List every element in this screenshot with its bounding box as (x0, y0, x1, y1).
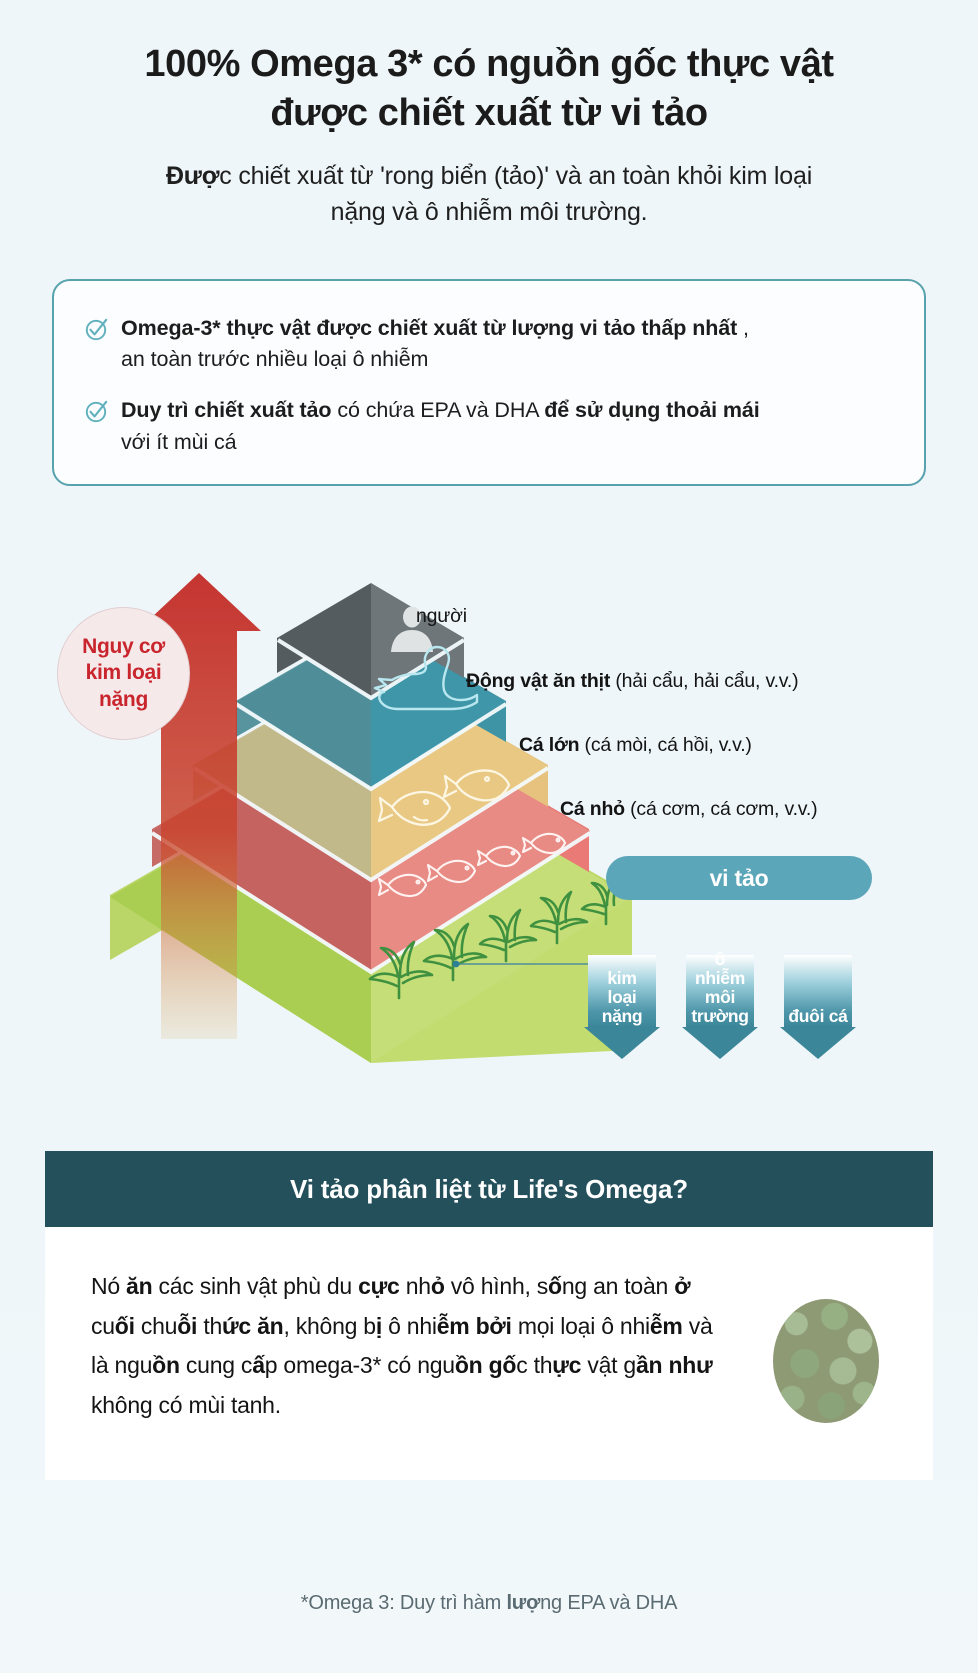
footnote-seg-a: *Omega 3: Duy trì hàm (301, 1592, 507, 1614)
risk-line-3: nặng (82, 687, 165, 713)
pyramid-label-human: người (416, 605, 467, 628)
par-seg-1: Nó (91, 1273, 126, 1299)
down-arrow-heavy-metal: kim loại nặng (588, 955, 656, 1059)
algae-microscope-photo (773, 1299, 879, 1423)
arrow2-line1: ô (691, 950, 748, 969)
par-seg-6: cu (91, 1313, 115, 1339)
benefit-item-2: Duy trì chiết xuất tảo có chứa EPA và DH… (84, 395, 890, 457)
par-bold-10: ễm bởi (437, 1313, 512, 1339)
check-circle-icon (84, 316, 110, 342)
par-bold-14: ồn gố (455, 1352, 516, 1378)
par-bold-16: ần như (636, 1352, 712, 1378)
par-bold-13: ấ (252, 1352, 265, 1378)
pyramid-label-small-fish: Cá nhỏ (cá cơm, cá cơm, v.v.) (560, 798, 817, 821)
subtitle-line-2: nặng và ô nhiễm môi trường. (70, 195, 908, 231)
par-seg-17: không có mùi tanh. (91, 1392, 281, 1418)
page-subtitle: Được chiết xuất từ 'rong biển (tảo)' và … (70, 159, 908, 230)
par-bold-8: ức ăn (222, 1313, 283, 1339)
benefit-1-rest: , (737, 316, 749, 340)
arrow2-line4: trường (691, 1007, 748, 1026)
footnote-seg-c: ng EPA và DHA (540, 1592, 677, 1614)
arrow3-line1: đuôi cá (788, 1007, 847, 1026)
par-bold-12: ồn (152, 1352, 180, 1378)
pyramid-label-large-fish-rest: (cá mòi, cá hồi, v.v.) (579, 734, 751, 756)
down-arrow-pollution-label: ô nhiễm môi trường (691, 950, 748, 1026)
pyramid-label-large-fish-strong: Cá lớn (519, 734, 579, 756)
footnote-seg-b: lượ (506, 1592, 540, 1614)
title-line-2: được chiết xuất từ vi tảo (70, 89, 908, 138)
benefit-1-line2: an toàn trước nhiều loại ô nhiễm (121, 347, 428, 371)
risk-line-2: kim loại (82, 660, 165, 686)
infographic-page: 100% Omega 3* có nguồn gốc thực vật được… (0, 0, 978, 1673)
microalgae-pill-label: vi tảo (710, 865, 769, 892)
microalgae-pill-badge: vi tảo (606, 856, 872, 900)
benefit-text-1: Omega-3* thực vật được chiết xuất từ lượ… (121, 313, 749, 375)
down-arrow-pollution: ô nhiễm môi trường (686, 955, 754, 1059)
benefit-item-1: Omega-3* thực vật được chiết xuất từ lượ… (84, 313, 890, 375)
arrow1-line3: nặng (602, 1007, 643, 1026)
arrow2-line2: nhiễm (691, 969, 748, 988)
par-bold-1: ăn (126, 1273, 152, 1299)
par-bold-11: ễm (650, 1313, 683, 1339)
page-title: 100% Omega 3* có nguồn gốc thực vật được… (70, 40, 908, 137)
par-bold-6: ối (115, 1313, 135, 1339)
par-seg-11: mọi loại ô nhi (512, 1313, 650, 1339)
pyramid-label-small-fish-strong: Cá nhỏ (560, 798, 625, 820)
footnote: *Omega 3: Duy trì hàm lượng EPA và DHA (0, 1592, 978, 1615)
check-circle-icon (84, 398, 110, 424)
par-bold-15: ực (552, 1352, 581, 1378)
arrow2-line3: môi (691, 988, 748, 1007)
benefit-1-strong: Omega-3* thực vật được chiết xuất từ lượ… (121, 316, 737, 340)
par-bold-3: ỏ (431, 1273, 445, 1299)
down-arrow-heavy-metal-body: kim loại nặng (588, 955, 656, 1027)
risk-line-1: Nguy cơ (82, 634, 165, 660)
par-seg-13: cung c (180, 1352, 252, 1378)
par-seg-16: vật g (581, 1352, 636, 1378)
subtitle-rest-fragment: c chiết xuất từ 'rong biển (tảo)' và an … (219, 162, 812, 190)
par-seg-8: th (197, 1313, 222, 1339)
panel-heading-bar: Vi tảo phân liệt từ Life's Omega? (45, 1151, 933, 1227)
par-seg-5: ng an toàn (562, 1273, 674, 1299)
arrow1-line1: kim (602, 969, 643, 988)
par-seg-7: chu (135, 1313, 177, 1339)
pyramid-label-predator-rest: (hải cẩu, hải cẩu, v.v.) (610, 670, 798, 692)
down-arrow-fish-tail-tip (780, 1027, 856, 1059)
subtitle-bold-fragment: Đượ (166, 162, 219, 190)
down-arrow-pollution-tip (682, 1027, 758, 1059)
benefit-2-line2: với ít mùi cá (121, 430, 237, 454)
down-arrow-fish-tail-body: đuôi cá (784, 955, 852, 1027)
panel-heading-text: Vi tảo phân liệt từ Life's Omega? (290, 1174, 688, 1205)
benefit-2-strong: Duy trì chiết xuất tảo (121, 398, 331, 422)
par-seg-9: , không b (283, 1313, 375, 1339)
down-arrow-fish-tail: đuôi cá (784, 955, 852, 1059)
header: 100% Omega 3* có nguồn gốc thực vật được… (0, 0, 978, 230)
benefit-text-2: Duy trì chiết xuất tảo có chứa EPA và DH… (121, 395, 760, 457)
benefit-2-strong-2: để sử dụng thoải mái (544, 398, 759, 422)
par-seg-4: vô hình, s (445, 1273, 548, 1299)
par-seg-14: p omega-3* có ngu (265, 1352, 455, 1378)
pyramid-label-human-text: người (416, 605, 467, 627)
par-seg-10: ô nhi (382, 1313, 437, 1339)
contaminant-arrows-group: kim loại nặng ô nhiễm môi trường (588, 955, 878, 1065)
pyramid-label-large-fish: Cá lớn (cá mòi, cá hồi, v.v.) (519, 734, 752, 757)
par-bold-7: ỗi (177, 1313, 197, 1339)
par-seg-15: c th (516, 1352, 552, 1378)
par-bold-4: ố (548, 1273, 562, 1299)
benefit-2-rest: có chứa EPA và DHA (331, 398, 544, 422)
panel-body: Nó ăn các sinh vật phù du cực nhỏ vô hìn… (45, 1227, 933, 1480)
arrow1-line2: loại (602, 988, 643, 1007)
par-seg-3: nh (400, 1273, 431, 1299)
down-arrow-pollution-body: ô nhiễm môi trường (686, 955, 754, 1027)
panel-paragraph: Nó ăn các sinh vật phù du cực nhỏ vô hìn… (91, 1267, 736, 1425)
pyramid-label-predator-strong: Động vật ăn thịt (466, 670, 610, 692)
par-bold-5: ở (674, 1273, 690, 1299)
subtitle-line-1: Được chiết xuất từ 'rong biển (tảo)' và … (70, 159, 908, 195)
heavy-metal-risk-badge: Nguy cơ kim loại nặng (57, 607, 190, 740)
benefits-card: Omega-3* thực vật được chiết xuất từ lượ… (52, 279, 926, 486)
title-line-1: 100% Omega 3* có nguồn gốc thực vật (70, 40, 908, 89)
down-arrow-heavy-metal-label: kim loại nặng (602, 969, 643, 1026)
down-arrow-fish-tail-label: đuôi cá (788, 1007, 847, 1026)
par-bold-2: cực (358, 1273, 400, 1299)
pyramid-label-predator: Động vật ăn thịt (hải cẩu, hải cẩu, v.v.… (466, 670, 798, 693)
down-arrow-heavy-metal-tip (584, 1027, 660, 1059)
pyramid-label-small-fish-rest: (cá cơm, cá cơm, v.v.) (625, 798, 818, 820)
par-seg-2: các sinh vật phù du (152, 1273, 358, 1299)
